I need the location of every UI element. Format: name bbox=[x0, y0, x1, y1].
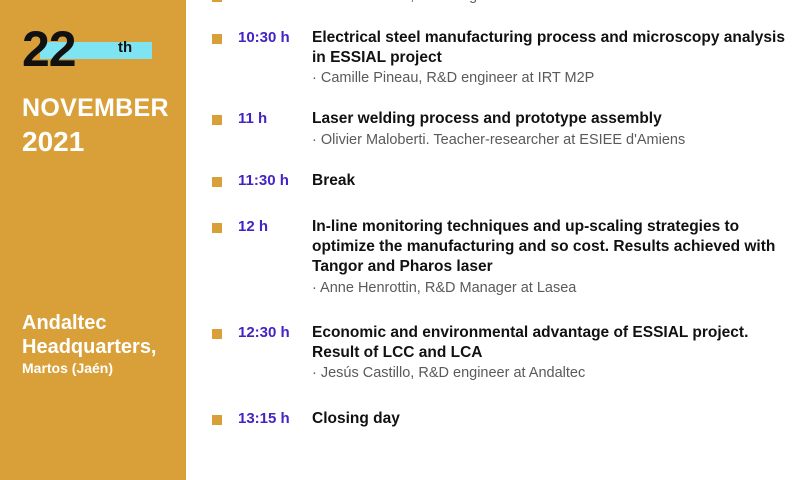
agenda-item-speaker: · Olivier Maloberti. Teacher-researcher … bbox=[312, 131, 790, 150]
agenda-item-row: 13:15 h Closing day bbox=[212, 409, 790, 429]
day-row: 22 th bbox=[22, 28, 182, 80]
agenda-item-body: In-line monitoring techniques and up-sca… bbox=[312, 217, 790, 297]
agenda-item: 12:30 h Economic and environmental advan… bbox=[186, 323, 800, 383]
agenda-item-speaker: · Anne Henrottin, R&D Manager at Lasea bbox=[312, 279, 790, 298]
bullet-square-icon bbox=[212, 177, 222, 187]
bullet-square-icon bbox=[212, 329, 222, 339]
venue-block: Andaltec Headquarters, Martos (Jaén) bbox=[22, 312, 186, 377]
agenda-panel: · Jesús Castillo, R&D engineer at Andalt… bbox=[186, 0, 800, 480]
agenda-item-time: 12:30 h bbox=[238, 323, 312, 343]
agenda-item-title: In-line monitoring techniques and up-sca… bbox=[312, 217, 790, 277]
agenda-item-body: Electrical steel manufacturing process a… bbox=[312, 28, 790, 88]
agenda-item: 13:15 h Closing day bbox=[186, 409, 800, 429]
agenda-item-row: 12:30 h Economic and environmental advan… bbox=[212, 323, 790, 383]
agenda-item-row: 11:30 h Break bbox=[212, 171, 790, 191]
agenda-item-title: Electrical steel manufacturing process a… bbox=[312, 28, 790, 68]
agenda-item-title: Break bbox=[312, 171, 790, 191]
day-ordinal-suffix: th bbox=[118, 40, 132, 55]
agenda-item: 10:30 h Electrical steel manufacturing p… bbox=[186, 28, 800, 88]
agenda-item-speaker: · Jesús Castillo, R&D engineer at Andalt… bbox=[312, 0, 790, 6]
agenda-item-time: 13:15 h bbox=[238, 409, 312, 429]
agenda-item-body: Closing day bbox=[312, 409, 790, 429]
agenda-item-body: Economic and environmental advantage of … bbox=[312, 323, 790, 383]
year-label: 2021 bbox=[22, 127, 182, 158]
agenda-item-title: Laser welding process and prototype asse… bbox=[312, 109, 790, 129]
agenda-item: 11 h Laser welding process and prototype… bbox=[186, 109, 800, 149]
agenda-item-time: 12 h bbox=[238, 217, 312, 237]
date-sidebar: 22 th NOVEMBER 2021 Andaltec Headquarter… bbox=[0, 0, 186, 480]
agenda-item-time: 10:30 h bbox=[238, 28, 312, 48]
agenda-item: · Jesús Castillo, R&D engineer at Andalt… bbox=[186, 0, 800, 6]
bullet-square-icon bbox=[212, 34, 222, 44]
bullet-square-icon bbox=[212, 115, 222, 125]
agenda-item-time: 11:30 h bbox=[238, 171, 312, 191]
venue-city: Martos (Jaén) bbox=[22, 360, 186, 377]
day-number: 22 bbox=[22, 24, 76, 74]
agenda-item-title: Economic and environmental advantage of … bbox=[312, 323, 790, 363]
agenda-list: · Jesús Castillo, R&D engineer at Andalt… bbox=[186, 0, 800, 443]
bullet-square-icon bbox=[212, 415, 222, 425]
agenda-item: 12 h In-line monitoring techniques and u… bbox=[186, 217, 800, 297]
bullet-square-icon bbox=[212, 0, 222, 2]
agenda-item-title: Closing day bbox=[312, 409, 790, 429]
agenda-item: 11:30 h Break bbox=[186, 171, 800, 191]
venue-name: Andaltec Headquarters, bbox=[22, 312, 186, 359]
agenda-item-body: Break bbox=[312, 171, 790, 191]
date-block: 22 th NOVEMBER 2021 bbox=[22, 28, 182, 158]
bullet-square-icon bbox=[212, 223, 222, 233]
agenda-item-body: Laser welding process and prototype asse… bbox=[312, 109, 790, 149]
agenda-item-row: 11 h Laser welding process and prototype… bbox=[212, 109, 790, 149]
agenda-item-row: · Jesús Castillo, R&D engineer at Andalt… bbox=[212, 0, 790, 6]
agenda-item-speaker: · Camille Pineau, R&D engineer at IRT M2… bbox=[312, 69, 790, 88]
agenda-item-row: 12 h In-line monitoring techniques and u… bbox=[212, 217, 790, 297]
month-label: NOVEMBER bbox=[22, 94, 182, 123]
agenda-item-time: 11 h bbox=[238, 109, 312, 129]
agenda-item-row: 10:30 h Electrical steel manufacturing p… bbox=[212, 28, 790, 88]
agenda-item-body: · Jesús Castillo, R&D engineer at Andalt… bbox=[312, 0, 790, 6]
agenda-poster: 22 th NOVEMBER 2021 Andaltec Headquarter… bbox=[0, 0, 800, 480]
agenda-item-speaker: · Jesús Castillo, R&D engineer at Andalt… bbox=[312, 364, 790, 383]
